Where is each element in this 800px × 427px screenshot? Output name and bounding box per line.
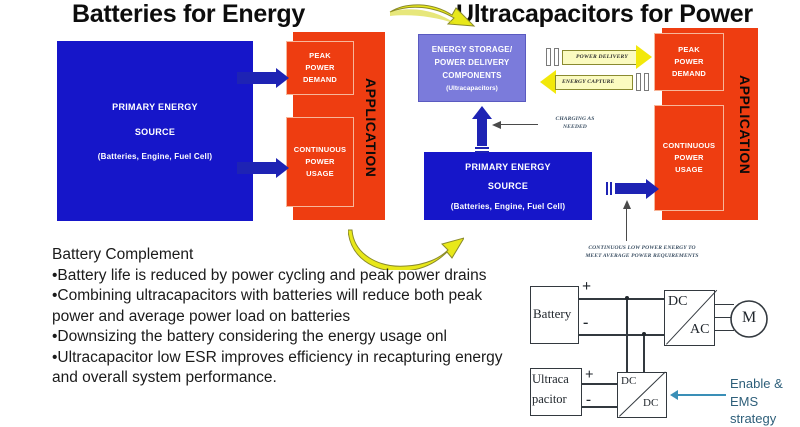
body-bullet-4: •Ultracapacitor low ESR improves efficie…	[52, 348, 522, 389]
battery-positive-wire	[579, 298, 664, 300]
battery-label: Battery	[533, 306, 571, 322]
energy-capture-arrowhead-icon	[540, 70, 556, 94]
right-peak-line2: POWER	[674, 56, 703, 68]
body-heading: Battery Complement	[52, 245, 522, 266]
left-cont-line3: USAGE	[306, 168, 334, 180]
left-primary-line1: PRIMARY ENERGY	[112, 100, 198, 115]
charging-note-leader-line	[500, 124, 538, 125]
continuous-low-power-note: CONTINUOUS LOW POWER ENERGY TO MEET AVER…	[552, 244, 732, 260]
right-cont-line2: POWER	[674, 152, 703, 164]
ultracap-positive-wire	[582, 383, 618, 385]
right-storage-line1: ENERGY STORAGE/	[432, 43, 513, 56]
body-bullet-1: •Battery life is reduced by power cyclin…	[52, 266, 522, 287]
circuit-diagram: Battery + - DC AC M Ultraca pacitor + - …	[500, 268, 800, 421]
right-cont-line1: CONTINUOUS	[663, 140, 715, 152]
body-bullet-3: •Downsizing the battery considering the …	[52, 327, 522, 348]
body-bullet-2: •Combining ultracapacitors with batterie…	[52, 286, 522, 327]
left-continuous-power-usage-box: CONTINUOUS POWER USAGE	[286, 117, 354, 207]
left-primary-line3: (Batteries, Engine, Fuel Cell)	[98, 150, 212, 163]
right-storage-line2: POWER DELIVERY	[435, 56, 510, 69]
left-cont-line1: CONTINUOUS	[294, 144, 346, 156]
left-peak-line1: PEAK	[309, 50, 331, 62]
page-title-left: Batteries for Energy	[72, 0, 305, 29]
charging-as-needed-note: CHARGING AS NEEDED	[540, 115, 610, 131]
bus-node-negative	[642, 332, 646, 336]
right-peak-line1: PEAK	[678, 44, 700, 56]
right-peak-line3: DEMAND	[672, 68, 706, 80]
right-primary-energy-source-box: PRIMARY ENERGY SOURCE (Batteries, Engine…	[424, 152, 592, 220]
right-cont-line3: USAGE	[675, 164, 703, 176]
ems-arrowhead-icon	[670, 390, 678, 400]
power-delivery-label: POWER DELIVERY	[576, 54, 628, 60]
right-continuous-power-usage-box: CONTINUOUS POWER USAGE	[654, 105, 724, 211]
ems-label-line1: Enable &	[730, 375, 783, 392]
right-storage-line3: COMPONENTS	[442, 69, 501, 82]
right-primary-line3: (Batteries, Engine, Fuel Cell)	[451, 200, 565, 213]
power-delivery-bar-2	[554, 48, 559, 66]
ultracap-label-line1: Ultraca	[532, 372, 569, 387]
continuous-note-line2: MEET AVERAGE POWER REQUIREMENTS	[585, 253, 698, 259]
left-peak-line2: POWER	[305, 62, 334, 74]
right-storage-line4: (Ultracapacitors)	[446, 84, 498, 94]
charging-note-line2: NEEDED	[563, 124, 587, 130]
ems-leader-line	[678, 394, 726, 396]
continuous-note-leader-line	[626, 205, 627, 241]
right-primary-line1: PRIMARY ENERGY	[465, 160, 551, 175]
right-peak-power-demand-box: PEAK POWER DEMAND	[654, 33, 724, 91]
dc-dc-bottom-label: DC	[643, 397, 658, 409]
left-peak-line3: DEMAND	[303, 74, 337, 86]
power-delivery-arrowhead-icon	[636, 45, 652, 69]
ultracap-plus-sign: +	[585, 367, 594, 384]
right-application-label: APPLICATION	[734, 36, 756, 214]
curved-arrow-top-icon	[388, 2, 484, 38]
battery-plus-sign: +	[582, 278, 591, 296]
left-application-label: APPLICATION	[360, 40, 382, 215]
charging-note-arrowhead-icon	[492, 120, 502, 130]
bus-node-positive	[625, 296, 629, 300]
left-primary-energy-source-box: PRIMARY ENERGY SOURCE (Batteries, Engine…	[57, 41, 253, 221]
dc-dc-top-label: DC	[621, 375, 636, 387]
battery-minus-sign: -	[583, 314, 588, 332]
right-primary-line2: SOURCE	[488, 179, 528, 194]
energy-capture-bar-2	[644, 73, 649, 91]
energy-capture-bar-1	[636, 73, 641, 91]
left-peak-power-demand-box: PEAK POWER DEMAND	[286, 41, 354, 95]
body-text-block: Battery Complement •Battery life is redu…	[52, 245, 522, 389]
continuous-note-line1: CONTINUOUS LOW POWER ENERGY TO	[588, 245, 695, 251]
charging-note-line1: CHARGING AS	[556, 116, 595, 122]
battery-negative-wire	[579, 334, 664, 336]
left-primary-line2: SOURCE	[135, 125, 175, 140]
ultracap-label-line2: pacitor	[532, 392, 567, 407]
power-delivery-bar-1	[546, 48, 551, 66]
page-title-right: Ultracapacitors for Power	[456, 0, 753, 29]
continuous-note-arrowhead-icon	[622, 200, 632, 210]
motor-label: M	[742, 309, 756, 327]
ultracap-negative-wire	[582, 406, 618, 408]
energy-capture-label: ENERGY CAPTURE	[562, 79, 614, 85]
ems-label-line2: EMS strategy	[730, 393, 800, 427]
dc-ac-bottom-label: AC	[690, 322, 709, 338]
right-energy-storage-box: ENERGY STORAGE/ POWER DELIVERY COMPONENT…	[418, 34, 526, 102]
left-cont-line2: POWER	[305, 156, 334, 168]
dc-ac-top-label: DC	[668, 294, 687, 310]
